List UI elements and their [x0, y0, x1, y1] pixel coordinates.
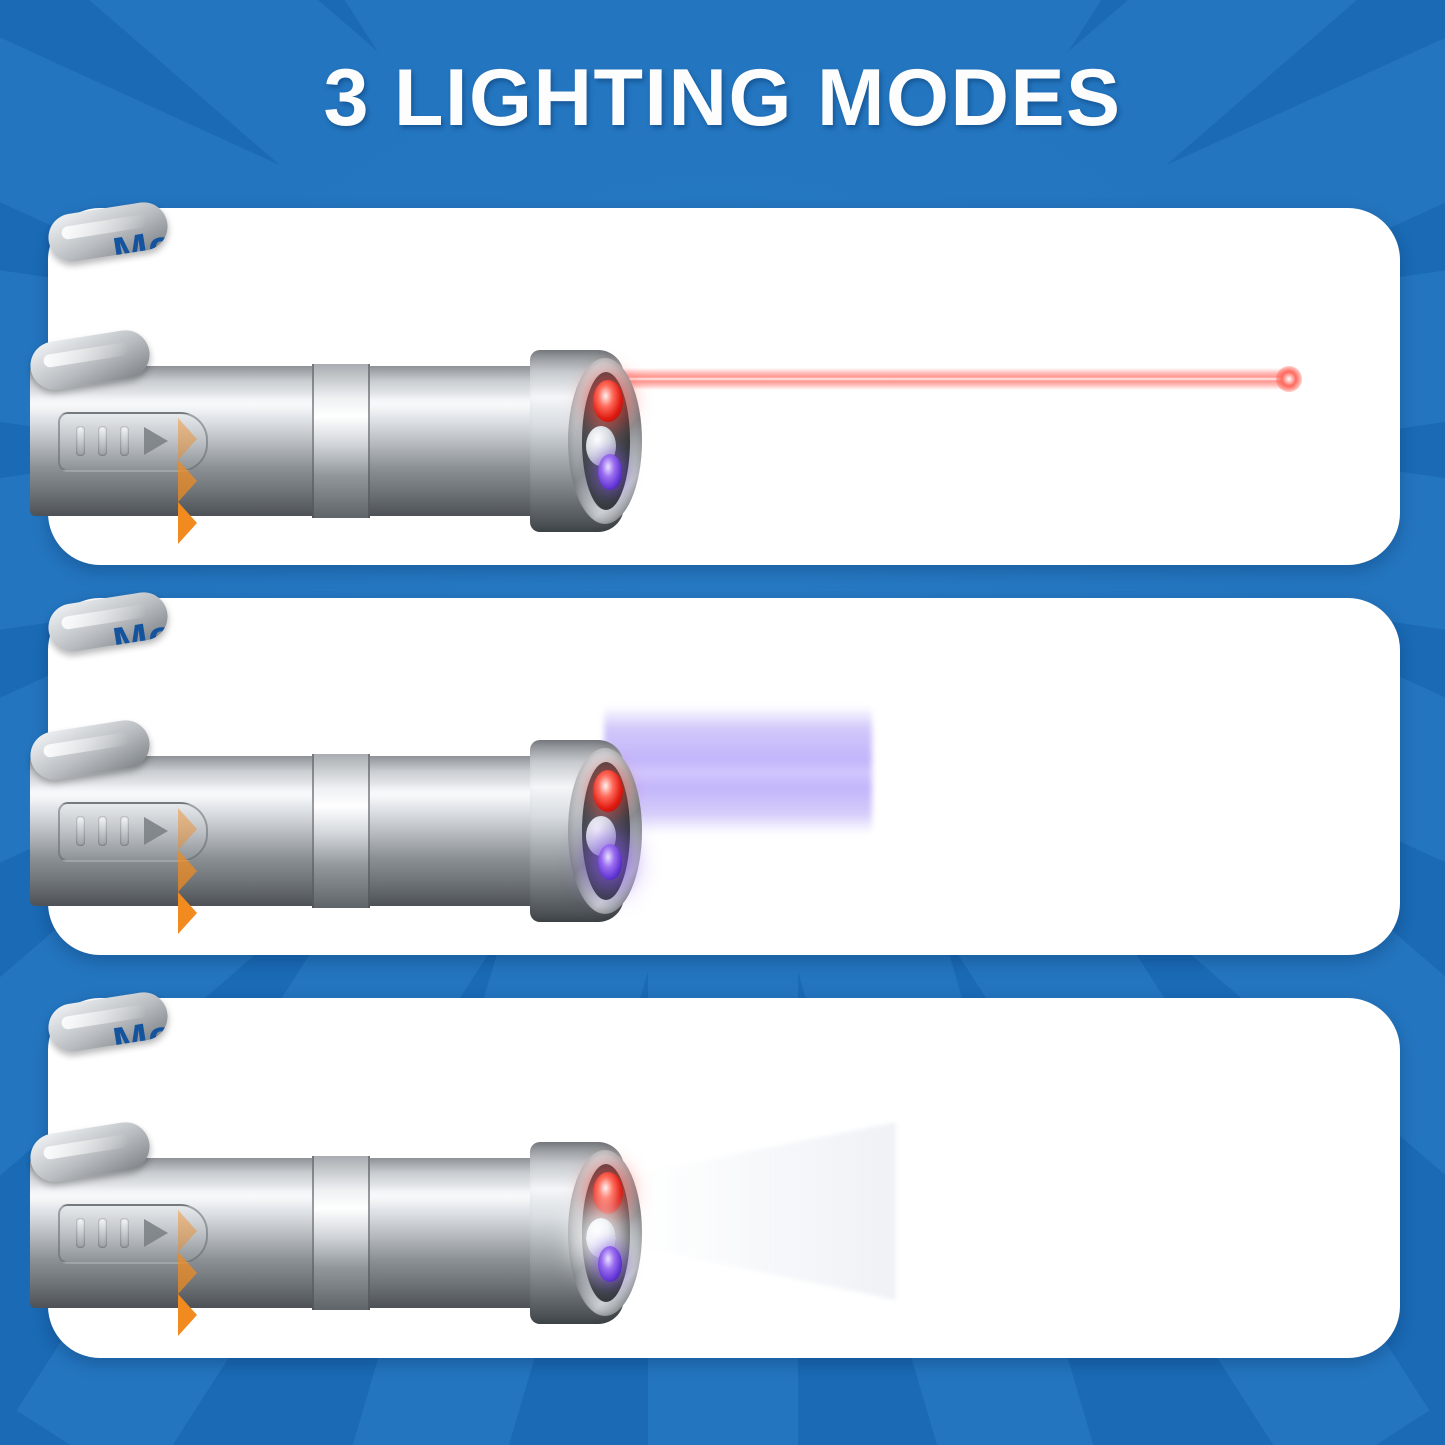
device-shadow-1 — [128, 404, 558, 424]
uv-led — [598, 1246, 622, 1282]
play-triangle-icon — [144, 1219, 168, 1247]
switch-ridge — [120, 1218, 129, 1248]
uv-light-beam — [604, 706, 872, 834]
mode-card-2: 03 V Mode 2: UV Light Authenticate curre… — [48, 598, 1400, 955]
mode-2-title: Mode 2: UV Light — [110, 589, 171, 655]
white-flashlight-lens — [586, 816, 616, 856]
chevron-arrows-icon — [178, 808, 192, 934]
white-flashlight-lens — [586, 1218, 616, 1258]
mode-card-3: Mode 3: Flashlight lighting Life Lightin… — [48, 998, 1400, 1358]
switch-ridge — [120, 816, 129, 846]
chevron-right-icon — [178, 808, 197, 850]
chevron-right-icon — [178, 460, 197, 502]
device-head — [530, 1142, 624, 1324]
switch-ridge — [98, 816, 107, 846]
slide-switch-2[interactable] — [58, 802, 208, 862]
device-ring-band — [312, 754, 370, 908]
mode-3-title: Mode 3: Flashlight lighting — [110, 989, 171, 1055]
device-bezel — [568, 358, 642, 524]
device-bezel — [568, 748, 642, 914]
chevron-right-icon — [178, 418, 197, 460]
device-emitter-well — [582, 1164, 630, 1302]
device-barrel — [30, 366, 575, 516]
device-ring-band — [312, 364, 370, 518]
chevron-arrows-icon — [178, 1210, 192, 1336]
switch-ridge — [76, 426, 85, 456]
chevron-right-icon — [178, 1252, 197, 1294]
device-shadow-3 — [128, 1198, 558, 1218]
mode-3-headings: Mode 3: Flashlight lighting Life Lightin… — [110, 989, 171, 1055]
device-head — [530, 740, 624, 922]
white-flashlight-beam — [596, 1116, 896, 1306]
red-laser-beam — [604, 368, 1294, 390]
switch-ridge — [120, 426, 129, 456]
device-head — [530, 350, 624, 532]
device-barrel — [30, 1158, 575, 1308]
page-title: 3 LIGHTING MODES — [0, 58, 1445, 139]
device-bezel — [568, 1150, 642, 1316]
mode-2-headings: Mode 2: UV Light Authenticate currency — [110, 589, 171, 655]
mode-card-1: Mode 1: Red Light 5 Different interactiv… — [48, 208, 1400, 565]
chevron-right-icon — [178, 1294, 197, 1336]
mode-1-headings: Mode 1: Red Light 5 Different interactiv… — [110, 199, 171, 265]
infographic-canvas: 3 LIGHTING MODES M — [0, 0, 1445, 1445]
switch-ridge — [98, 1218, 107, 1248]
device-ring-band — [312, 1156, 370, 1310]
chevron-right-icon — [178, 850, 197, 892]
chevron-right-icon — [178, 502, 197, 544]
mode-1-title: Mode 1: Red Light — [110, 199, 171, 265]
switch-ridge — [98, 426, 107, 456]
chevron-right-icon — [178, 1210, 197, 1252]
white-flashlight-lens — [586, 426, 616, 466]
switch-ridge — [76, 1218, 85, 1248]
red-laser-led — [593, 380, 623, 422]
red-laser-led — [593, 770, 623, 812]
device-barrel — [30, 756, 575, 906]
device-emitter-well — [582, 372, 630, 510]
red-laser-led — [593, 1172, 623, 1214]
switch-ridge — [76, 816, 85, 846]
red-laser-dot — [1276, 366, 1302, 392]
play-triangle-icon — [144, 817, 168, 845]
device-shadow-2 — [128, 794, 558, 814]
device-emitter-well — [582, 762, 630, 900]
uv-led — [598, 454, 622, 490]
chevron-arrows-icon — [178, 418, 192, 544]
uv-led — [598, 844, 622, 880]
slide-switch-1[interactable] — [58, 412, 208, 472]
play-triangle-icon — [144, 427, 168, 455]
chevron-right-icon — [178, 892, 197, 934]
